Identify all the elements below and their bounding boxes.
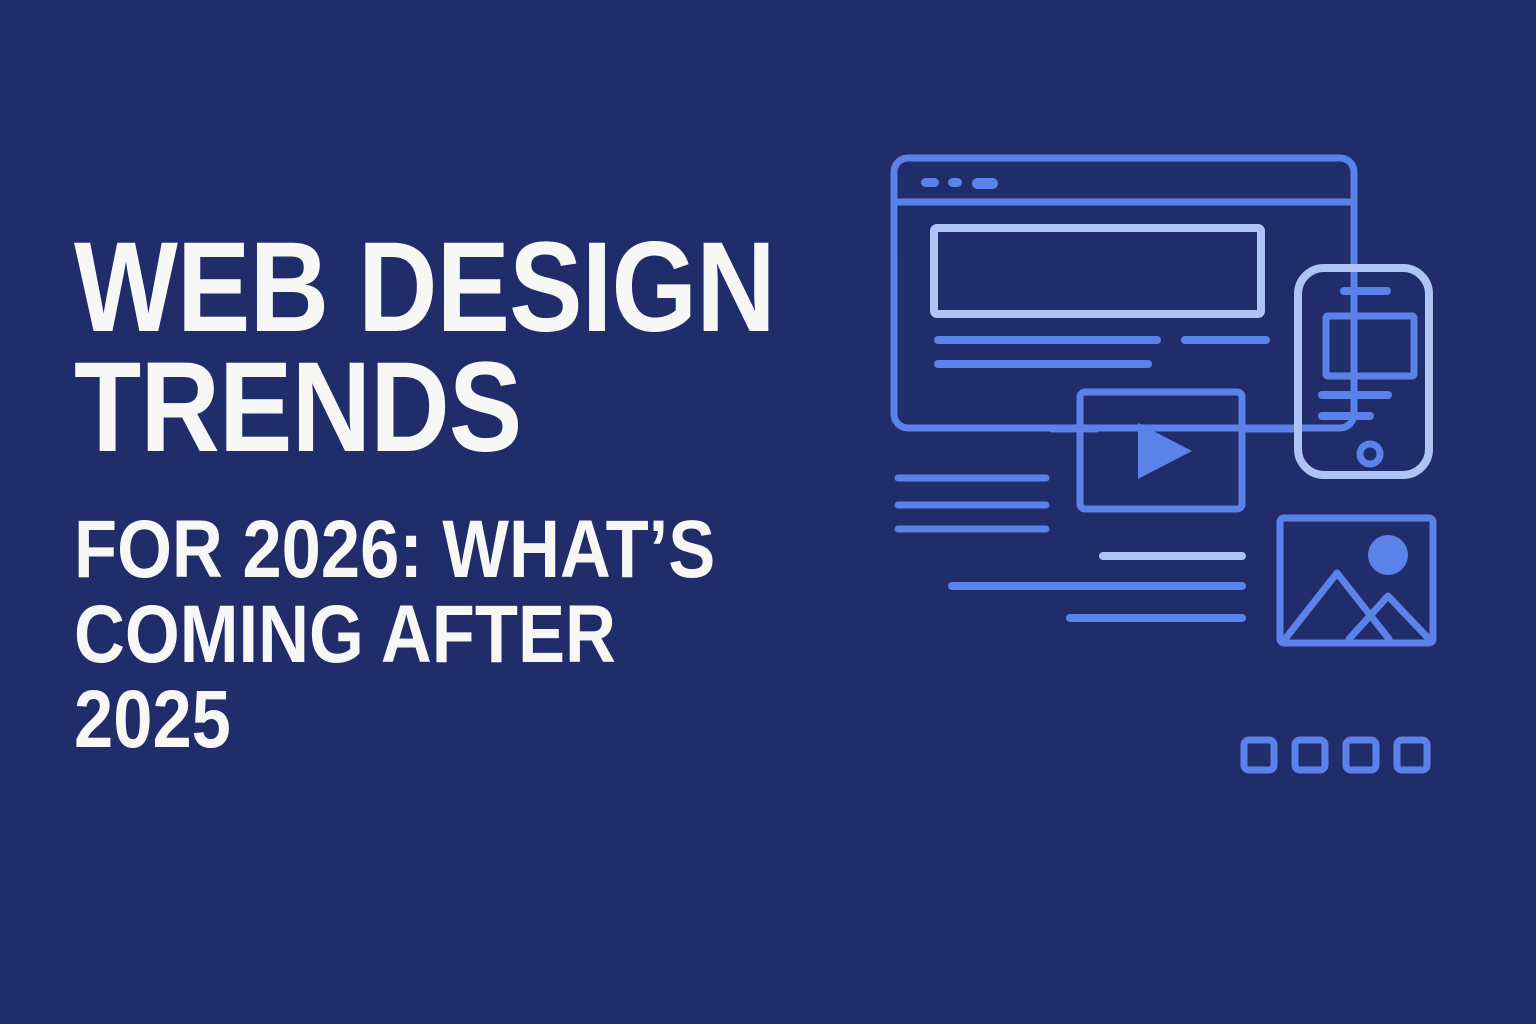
image-placeholder — [1280, 518, 1433, 643]
browser-body-text-lines — [938, 340, 1266, 364]
mountain-large-icon — [1285, 573, 1389, 639]
mobile-phone — [1298, 268, 1429, 475]
window-dot-icon — [921, 178, 939, 187]
thumbnail-square — [1397, 740, 1427, 770]
video-player — [1080, 392, 1242, 509]
thumbnail-square — [1295, 740, 1325, 770]
page-subtitle: FOR 2026: WHAT’S COMING AFTER 2025 — [74, 469, 779, 763]
window-dot-icon — [948, 178, 962, 187]
thumbnail-square — [1244, 740, 1274, 770]
paragraph-lines-left — [898, 478, 1046, 529]
browser-window — [894, 158, 1354, 428]
sun-circle-icon — [1368, 535, 1408, 575]
browser-titlebar-dots — [921, 178, 998, 189]
phone-screen — [1326, 316, 1414, 376]
poster-canvas: WEB DESIGN TRENDS FOR 2026: WHAT’S COMIN… — [0, 0, 1536, 1024]
thumbnail-squares — [1244, 740, 1427, 770]
page-title: WEB DESIGN TRENDS — [74, 228, 779, 469]
web-design-wireframe-illustration — [876, 136, 1456, 816]
hero-banner-placeholder — [934, 228, 1261, 314]
paragraph-lines-bottom — [952, 556, 1242, 618]
hero-text-block: WEB DESIGN TRENDS FOR 2026: WHAT’S COMIN… — [74, 228, 894, 762]
image-frame — [1280, 518, 1433, 643]
thumbnail-square — [1346, 740, 1376, 770]
window-pill-icon — [972, 178, 998, 189]
phone-home-button — [1360, 444, 1380, 464]
